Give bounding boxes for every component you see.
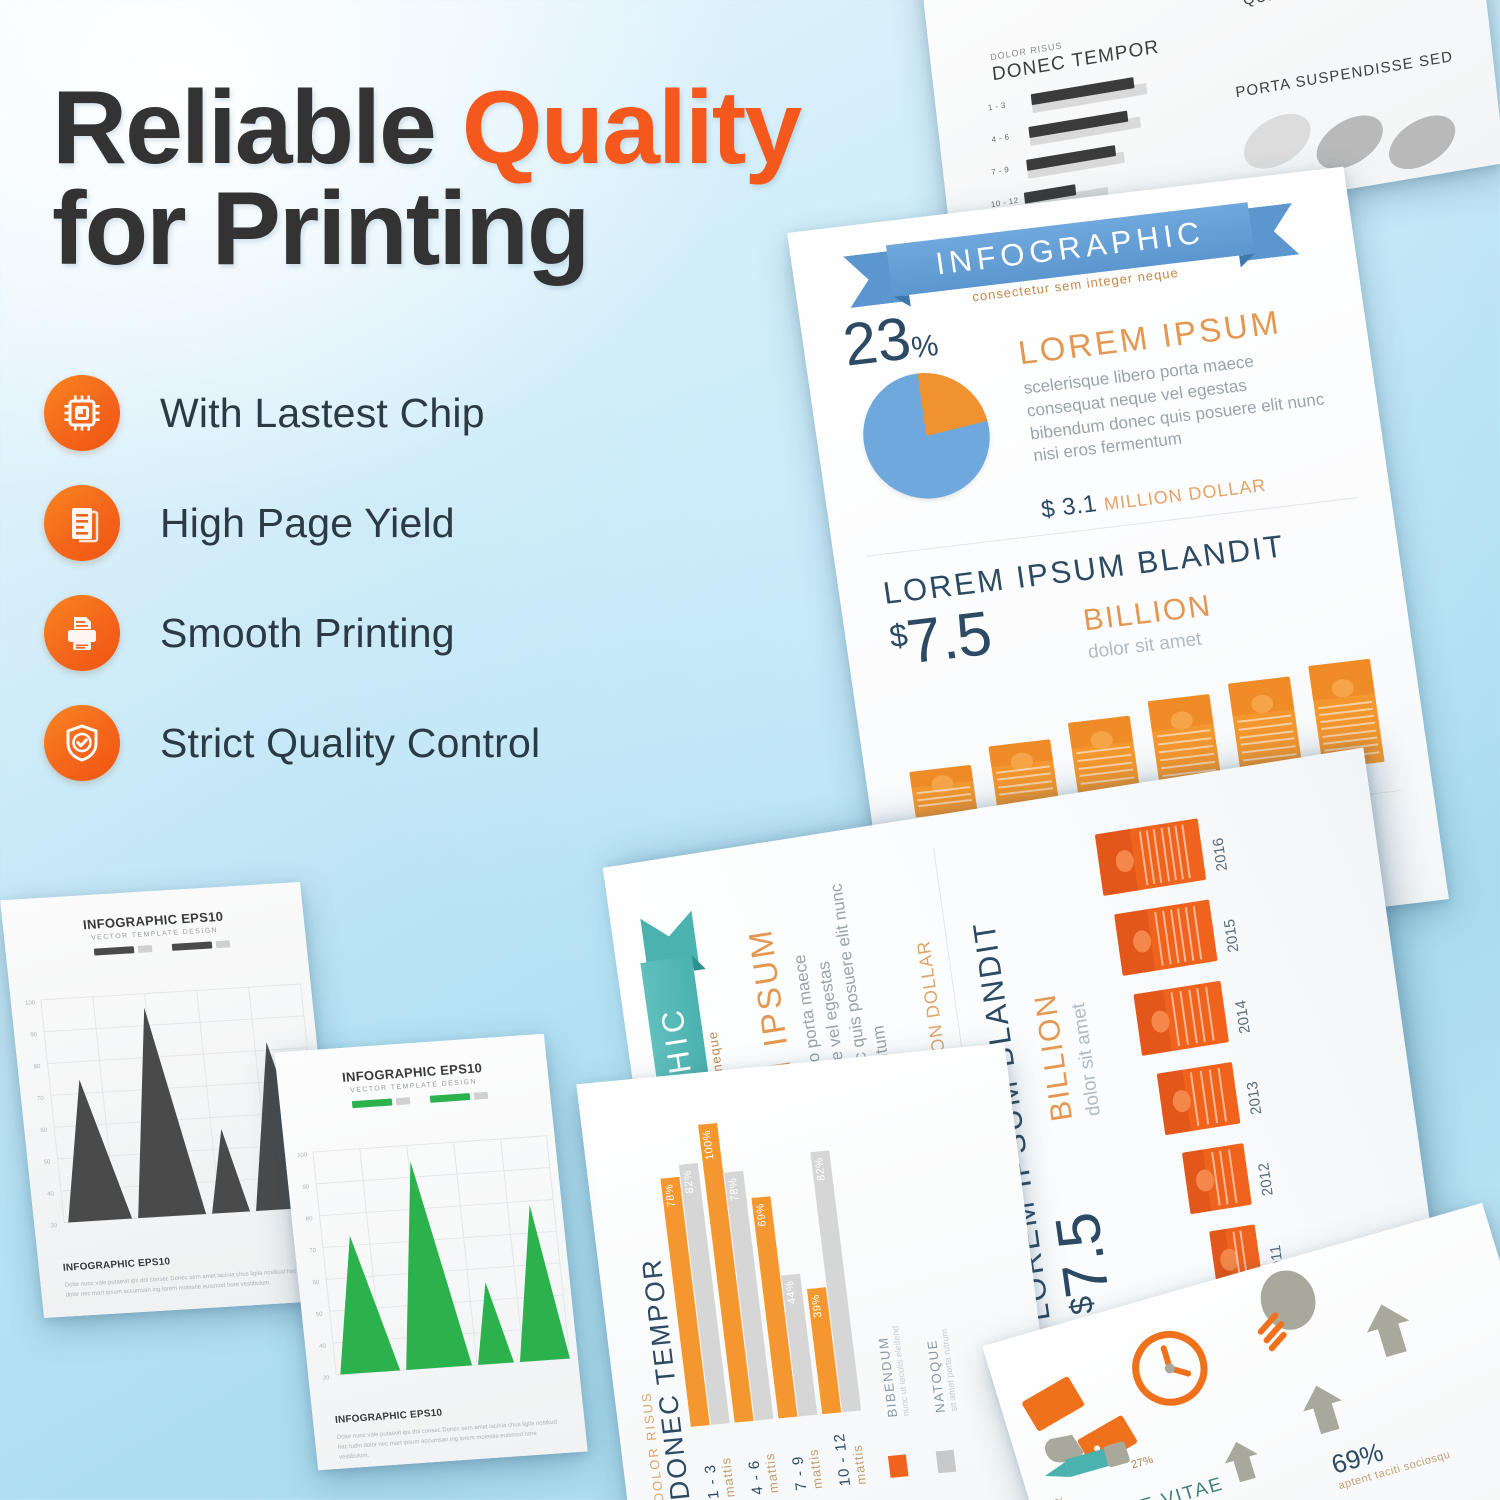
svg-text:90: 90 [30, 1032, 38, 1038]
arrow-up-icon [1360, 1298, 1418, 1360]
legend-swatch-natoque [936, 1450, 957, 1474]
feature-item-smooth-printing: Smooth Printing [44, 578, 684, 688]
svg-text:60: 60 [312, 1280, 320, 1286]
gray-bar-label: 4 - 6 [991, 132, 1010, 144]
legend-pill [474, 1092, 489, 1100]
chip-icon [44, 375, 120, 451]
pages-icon [44, 485, 120, 561]
arrow-up-icon [1297, 1380, 1349, 1437]
million-dollar-value: $ 3.1 MILLION DOLLAR [1039, 470, 1268, 524]
svg-text:80: 80 [306, 1216, 314, 1222]
year-label: 2013 [1244, 1080, 1265, 1116]
bar-value: 44% [784, 1280, 799, 1305]
bar-value: 78% [663, 1183, 678, 1208]
legend-pill [216, 940, 231, 948]
year-bar [1114, 899, 1217, 975]
bar-value: 39% [810, 1294, 825, 1319]
bar-value: 82% [682, 1169, 697, 1194]
headline-line2: for Printing [52, 171, 588, 287]
year-bar [1095, 818, 1206, 896]
year-bar-chart-teal: 2011 2012 2013 2014 2015 2016 [1096, 806, 1291, 1304]
year-bar [1133, 981, 1229, 1056]
bar-value: 100% [701, 1129, 717, 1160]
legend-pill [138, 945, 153, 953]
legend-pill [430, 1093, 471, 1103]
orange-row-label: 1 - 3mattis [701, 1456, 738, 1499]
legend-pill [94, 946, 135, 955]
feature-item-quality-control: Strict Quality Control [44, 688, 684, 798]
pct-69: 69%aptent taciti sociosqu [1328, 1419, 1452, 1492]
svg-text:30: 30 [322, 1375, 330, 1381]
feature-list: With Lastest Chip High Page Yield [44, 358, 684, 798]
svg-text:40: 40 [319, 1343, 327, 1349]
orange-row-label: 7 - 9mattis [789, 1448, 826, 1491]
orange-row-label: 10 - 12mattis [831, 1431, 869, 1487]
feature-label-quality-control: Strict Quality Control [160, 720, 540, 767]
feature-label-chip: With Lastest Chip [160, 390, 485, 437]
svg-text:100: 100 [25, 1000, 36, 1007]
year-label: 2014 [1232, 999, 1253, 1035]
gray-bars-title: DONEC TEMPOR [991, 36, 1160, 86]
pie-chart [855, 366, 998, 506]
printer-icon [44, 595, 120, 671]
gray-quisque-heading: QUISQUE VITAE ODIO [1242, 0, 1421, 9]
gray-bar-label: 7 - 9 [991, 165, 1010, 177]
orange-row-label: 4 - 6mattis [745, 1452, 782, 1495]
blandit-value: $7.5 [886, 598, 995, 680]
feature-label-page-yield: High Page Yield [160, 500, 455, 547]
svg-text:80: 80 [34, 1064, 42, 1070]
arrow-up-icon [1220, 1437, 1264, 1485]
feature-label-smooth-printing: Smooth Printing [160, 610, 455, 657]
headline-line1-dark: Reliable [52, 70, 462, 186]
headline-line1-accent: Quality [462, 70, 801, 186]
bar-value: 69% [754, 1203, 769, 1228]
gray-porta-ellipse [1380, 104, 1464, 180]
gray-bar-label: 1 - 3 [988, 101, 1007, 113]
gray-porta-ellipse [1235, 102, 1320, 179]
year-label: 2015 [1221, 918, 1242, 954]
legend-pill [352, 1098, 393, 1108]
svg-text:70: 70 [309, 1248, 317, 1254]
year-label: 2016 [1210, 837, 1231, 873]
green-area-chart: 1009080 706050 4030 [284, 1125, 584, 1432]
legend-pill [172, 941, 213, 950]
year-bar [1157, 1062, 1241, 1135]
svg-text:40: 40 [47, 1191, 55, 1197]
gray-porta-heading: PORTA SUSPENDISSE SED [1235, 48, 1454, 101]
orange-bars-sheet: DOLOR RISUS DONEC TEMPOR 1 - 3mattis 82%… [576, 1043, 1061, 1500]
svg-text:60: 60 [40, 1128, 48, 1134]
blandit-value-teal: $7.5 [1042, 1208, 1126, 1318]
legend-swatch-bibendum [888, 1454, 909, 1478]
bar-value: 82% [813, 1157, 828, 1182]
svg-text:30: 30 [50, 1223, 58, 1229]
shield-check-icon [44, 705, 120, 781]
svg-text:100: 100 [297, 1152, 308, 1159]
year-label: 2012 [1255, 1161, 1276, 1197]
feature-item-chip: With Lastest Chip [44, 358, 684, 468]
svg-text:70: 70 [37, 1096, 45, 1102]
pie-percent-value: 23% [839, 300, 942, 379]
lightbulb-icon [1228, 1258, 1338, 1370]
feature-item-page-yield: High Page Yield [44, 468, 684, 578]
blandit-title: LOREM IPSUM BLANDIT [881, 528, 1287, 611]
legend-pill [396, 1097, 411, 1105]
bar-value: 78% [727, 1177, 742, 1202]
svg-text:50: 50 [316, 1312, 324, 1318]
svg-text:90: 90 [302, 1184, 310, 1190]
green-chart-sheet: INFOGRAPHIC EPS10 VECTOR TEMPLATE DESIGN… [274, 1034, 587, 1471]
year-bar [1182, 1143, 1252, 1214]
svg-text:50: 50 [44, 1159, 52, 1165]
